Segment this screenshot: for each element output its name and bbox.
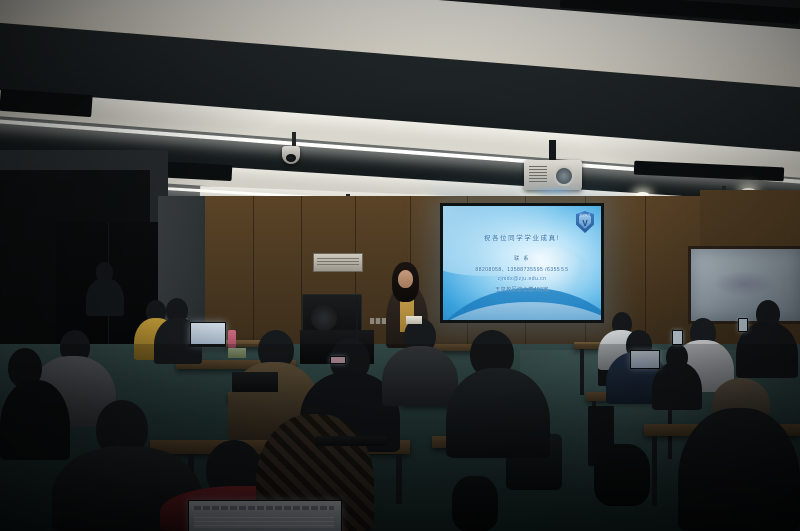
- desk-leg: [652, 436, 657, 506]
- water-bottle: [228, 330, 236, 348]
- slide-email: zjmdx@zju.edu.cn: [443, 276, 601, 282]
- spreadsheet-toolbar: [194, 506, 334, 510]
- slide-address: 玉泉校区综合楼403室: [443, 286, 601, 293]
- whiteboard[interactable]: [688, 246, 800, 324]
- spreadsheet-grid: [194, 514, 334, 528]
- dome-camera-ceiling-left: [282, 146, 300, 164]
- laptop-base: [188, 344, 226, 347]
- whiteboard-smudge: [713, 271, 775, 296]
- presenter-face: [398, 270, 413, 288]
- slide-phone: 88208058、13588735595 /6355 5 5: [443, 266, 601, 273]
- laptop-closed[interactable]: [316, 436, 386, 446]
- speaker-cone-icon: [311, 305, 337, 331]
- wall-control-panel[interactable]: [313, 253, 363, 272]
- slide-title: 祝各位同学学业成真!: [443, 232, 601, 242]
- laptop-screen[interactable]: [190, 322, 226, 346]
- projector-lens-icon: [554, 166, 574, 186]
- smartphone[interactable]: [672, 330, 683, 345]
- slide-subtitle: 联 系: [443, 255, 601, 262]
- backpack: [594, 444, 650, 506]
- smartphone[interactable]: [738, 318, 748, 332]
- projector-glow: [528, 186, 580, 196]
- smartphone-on-desk[interactable]: [330, 356, 346, 364]
- crest-text: 浙江大学: [576, 213, 594, 217]
- lecture-hall-photo: 浙江大学 V 祝各位同学学业成真! 联 系 88208058、135887355…: [0, 0, 800, 531]
- presenter-papers: [406, 316, 422, 324]
- crest-monogram: V: [582, 220, 587, 228]
- laptop-closed[interactable]: [232, 372, 278, 392]
- desk-leg: [580, 349, 584, 395]
- laptop-screen[interactable]: [630, 350, 660, 369]
- control-panel-labels: [317, 258, 359, 267]
- slide-content: 浙江大学 V 祝各位同学学业成真! 联 系 88208058、135887355…: [443, 206, 601, 320]
- slide-text-block: 祝各位同学学业成真! 联 系 88208058、13588735595 /635…: [443, 232, 601, 293]
- projector-vent-icon: [529, 166, 547, 182]
- notebook: [228, 348, 246, 358]
- camera-lens-icon: [286, 154, 296, 162]
- backpack: [452, 476, 498, 531]
- desk-leg: [396, 454, 402, 504]
- projection-screen: 浙江大学 V 祝各位同学学业成真! 联 系 88208058、135887355…: [440, 203, 604, 323]
